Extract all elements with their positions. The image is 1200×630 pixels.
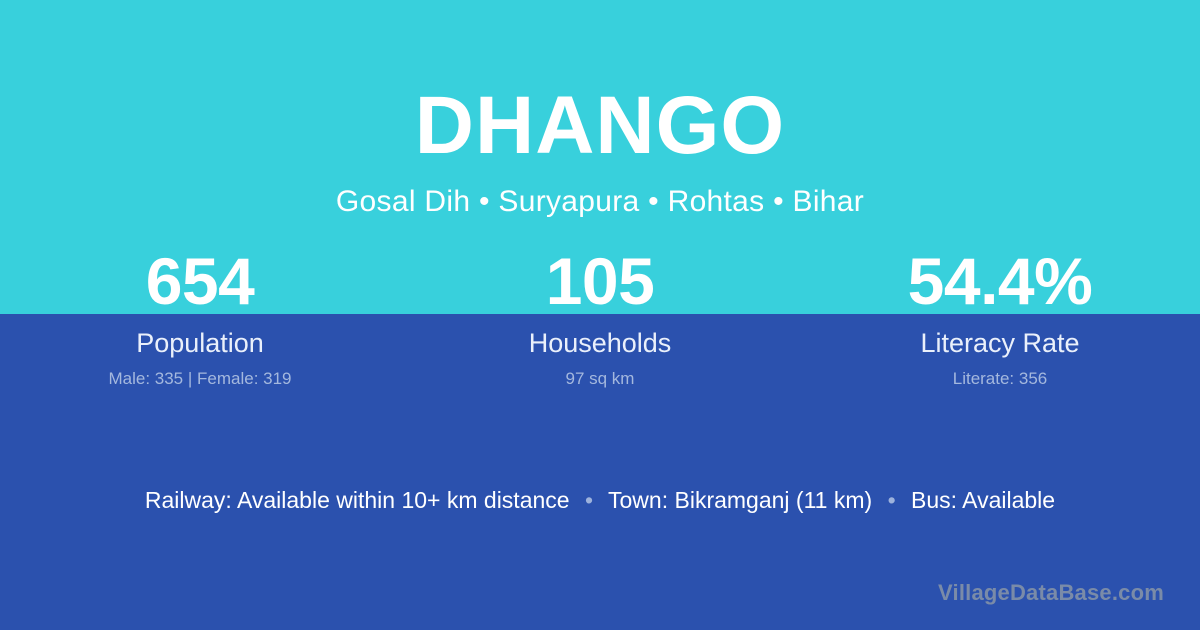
transport-info-line: Railway: Available within 10+ km distanc… <box>0 483 1200 517</box>
stat-literacy-rate-detail: Literate: 356 <box>800 368 1200 390</box>
info-separator-2: • <box>879 487 905 513</box>
stat-population: 654 Population Male: 335 | Female: 319 <box>0 248 400 390</box>
nearest-town-info: Town: Bikramganj (11 km) <box>608 487 872 513</box>
site-brand-watermark: VillageDataBase.com <box>938 580 1164 606</box>
stat-population-detail: Male: 335 | Female: 319 <box>0 368 400 390</box>
stat-literacy-rate-label: Literacy Rate <box>800 327 1200 359</box>
stats-row: 654 Population Male: 335 | Female: 319 1… <box>0 248 1200 390</box>
railway-info: Railway: Available within 10+ km distanc… <box>145 487 570 513</box>
card-header: DHANGO Gosal Dih • Suryapura • Rohtas • … <box>0 0 1200 220</box>
stat-households-detail: 97 sq km <box>400 368 800 390</box>
info-separator-1: • <box>576 487 602 513</box>
bus-info: Bus: Available <box>911 487 1055 513</box>
breadcrumb: Gosal Dih • Suryapura • Rohtas • Bihar <box>0 172 1200 220</box>
stat-literacy-rate: 54.4% Literacy Rate Literate: 356 <box>800 248 1200 390</box>
page-title: DHANGO <box>0 0 1200 172</box>
village-info-card: DHANGO Gosal Dih • Suryapura • Rohtas • … <box>0 0 1200 630</box>
stat-households: 105 Households 97 sq km <box>400 248 800 390</box>
stat-literacy-rate-value: 54.4% <box>800 248 1200 314</box>
stat-population-value: 654 <box>0 248 400 314</box>
stat-households-label: Households <box>400 327 800 359</box>
stat-households-value: 105 <box>400 248 800 314</box>
stat-population-label: Population <box>0 327 400 359</box>
